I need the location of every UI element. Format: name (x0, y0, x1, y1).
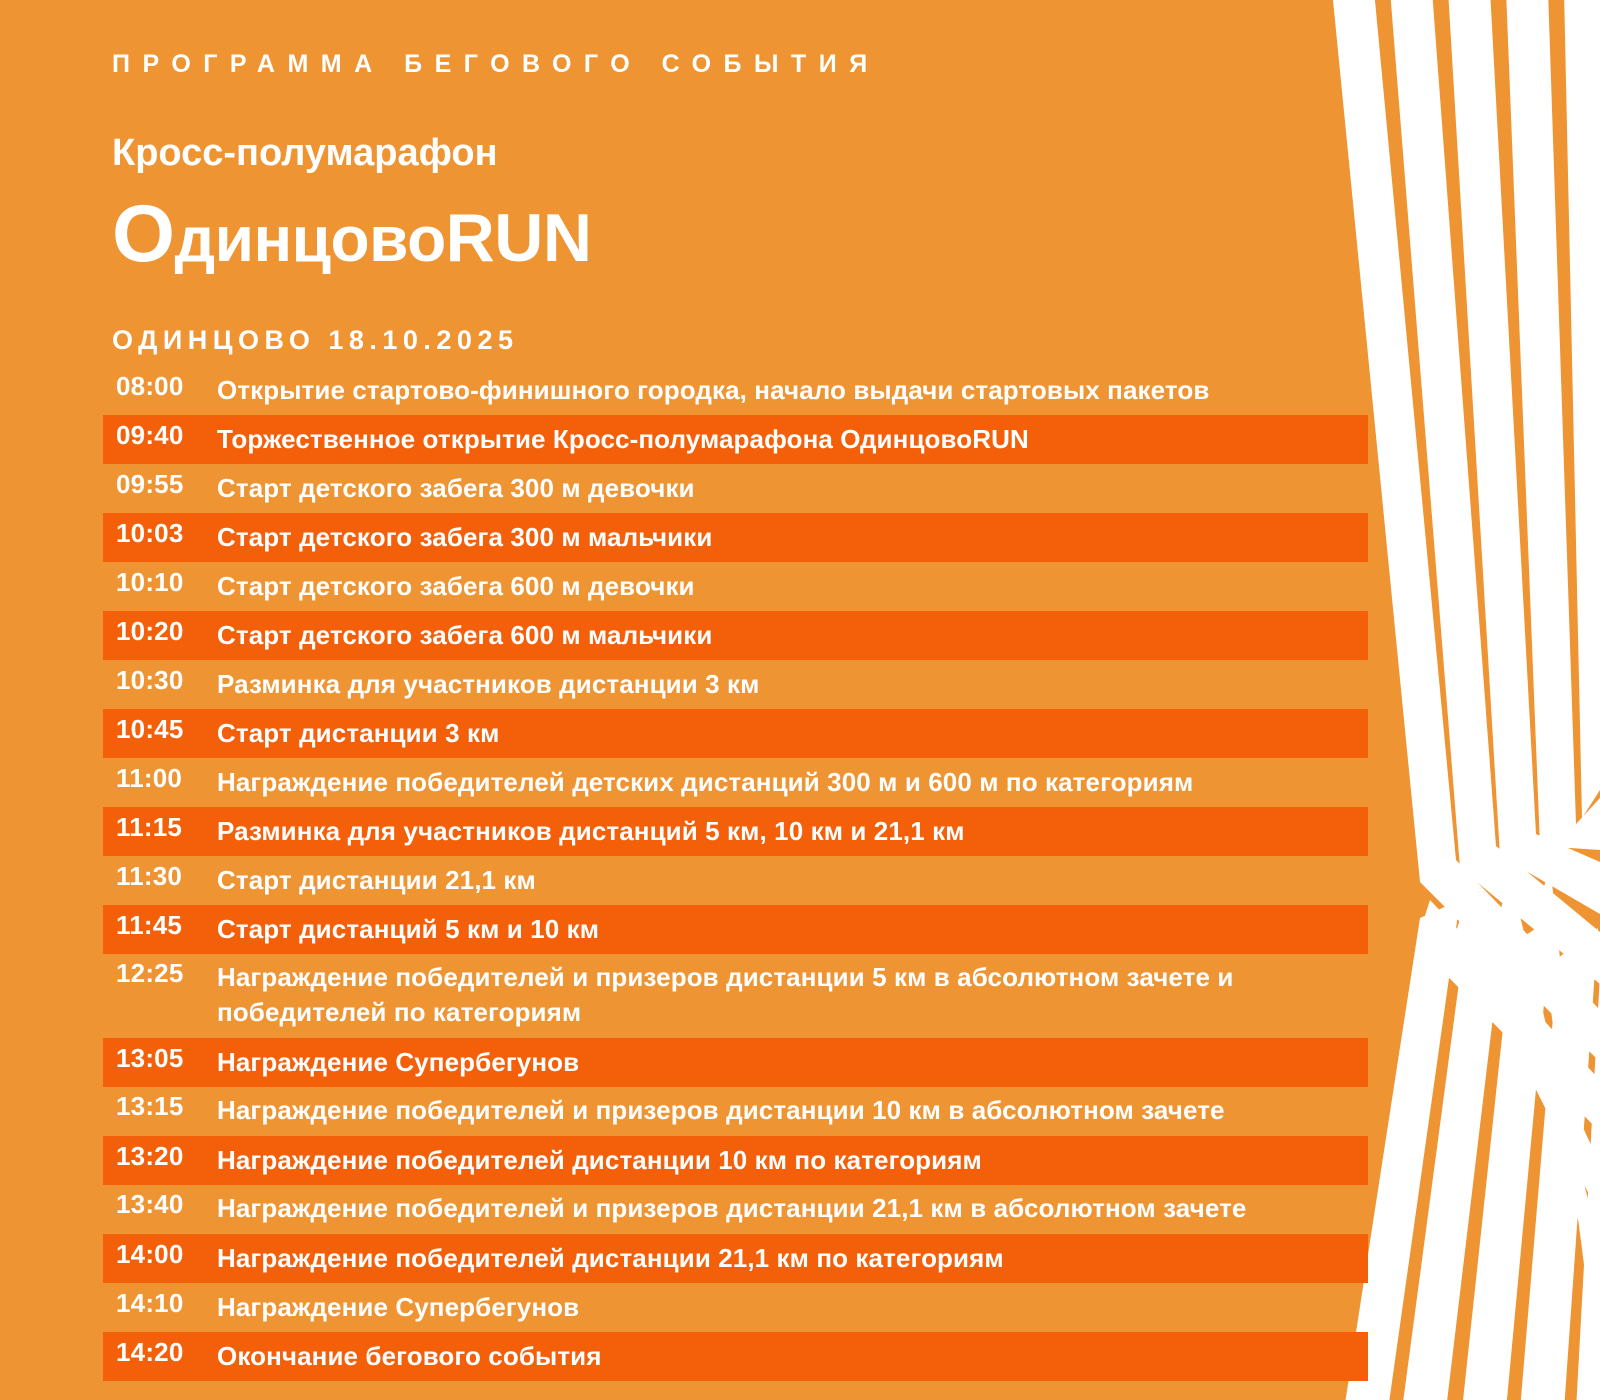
schedule-row: 13:05Награждение Супербегунов (103, 1038, 1368, 1087)
schedule-row-description: Старт дистанций 5 км и 10 км (217, 912, 1368, 947)
schedule-row-description: Окончание бегового события (217, 1339, 1368, 1374)
schedule-row: 14:10Награждение Супербегунов (103, 1283, 1368, 1332)
schedule-row: 11:30Старт дистанции 21,1 км (103, 856, 1368, 905)
schedule-row-description: Награждение победителей детских дистанци… (217, 765, 1368, 800)
schedule-row-time: 09:40 (116, 422, 217, 449)
schedule-row-description: Награждение Супербегунов (217, 1045, 1368, 1080)
eyebrow-text: ПРОГРАММА БЕГОВОГО СОБЫТИЯ (112, 52, 1292, 77)
schedule-row: 09:55Старт детского забега 300 м девочки (103, 464, 1368, 513)
schedule-row-description: Награждение победителей и призеров диста… (217, 1191, 1337, 1226)
schedule-row-description: Старт детского забега 600 м девочки (217, 569, 1368, 604)
schedule-row-time: 10:03 (116, 520, 217, 547)
schedule-row-description: Открытие стартово-финишного городка, нач… (217, 373, 1368, 408)
schedule-row-description: Старт детского забега 300 м девочки (217, 471, 1368, 506)
event-title-latin: RUN (446, 200, 592, 276)
schedule-row: 13:40Награждение победителей и призеров … (103, 1185, 1368, 1234)
schedule-row-time: 09:55 (116, 471, 217, 498)
place-and-date: ОДИНЦОВО 18.10.2025 (112, 327, 1292, 354)
schedule-row-time: 11:30 (116, 863, 217, 890)
schedule-row: 14:00Награждение победителей дистанции 2… (103, 1234, 1368, 1283)
schedule-row: 13:15Награждение победителей и призеров … (103, 1087, 1368, 1136)
schedule-row-time: 08:00 (116, 373, 217, 400)
event-title-lead: О (112, 189, 175, 279)
event-title: ОдинцовоRUN (112, 194, 1292, 275)
schedule-row: 11:15Разминка для участников дистанций 5… (103, 807, 1368, 856)
schedule-row-time: 10:20 (116, 618, 217, 645)
schedule-row-time: 13:40 (116, 1191, 217, 1218)
schedule-row-time: 13:05 (116, 1045, 217, 1072)
schedule-row-time: 10:30 (116, 667, 217, 694)
schedule-row: 12:25Награждение победителей и призеров … (103, 954, 1368, 1038)
schedule-row-time: 14:10 (116, 1290, 217, 1317)
schedule-row: 14:20Окончание бегового события (103, 1332, 1368, 1381)
schedule-row-description: Торжественное открытие Кросс-полумарафон… (217, 422, 1368, 457)
schedule-row-description: Награждение Супербегунов (217, 1290, 1368, 1325)
schedule-row-time: 12:25 (116, 960, 217, 987)
schedule-row-time: 10:45 (116, 716, 217, 743)
schedule-row-description: Разминка для участников дистанций 5 км, … (217, 814, 1368, 849)
poster-header: ПРОГРАММА БЕГОВОГО СОБЫТИЯ Кросс-полумар… (112, 52, 1292, 354)
schedule-row: 08:00Открытие стартово-финишного городка… (103, 366, 1368, 415)
schedule-row-time: 13:15 (116, 1093, 217, 1120)
schedule-row-description: Разминка для участников дистанции 3 км (217, 667, 1368, 702)
event-subtitle: Кросс-полумарафон (112, 134, 1292, 172)
schedule-row-description: Награждение победителей дистанции 10 км … (217, 1143, 1368, 1178)
schedule-list: 08:00Открытие стартово-финишного городка… (103, 366, 1368, 1381)
schedule-row-description: Награждение победителей и призеров диста… (217, 1093, 1337, 1128)
schedule-row-description: Награждение победителей дистанции 21,1 к… (217, 1241, 1368, 1276)
schedule-row-description: Награждение победителей и призеров диста… (217, 960, 1337, 1030)
schedule-row-time: 13:20 (116, 1143, 217, 1170)
schedule-row-time: 10:10 (116, 569, 217, 596)
schedule-row-time: 14:20 (116, 1339, 217, 1366)
schedule-row: 10:45Старт дистанции 3 км (103, 709, 1368, 758)
schedule-row-description: Старт детского забега 300 м мальчики (217, 520, 1368, 555)
schedule-row: 10:10Старт детского забега 600 м девочки (103, 562, 1368, 611)
schedule-row-description: Старт дистанции 21,1 км (217, 863, 1368, 898)
schedule-row: 11:45Старт дистанций 5 км и 10 км (103, 905, 1368, 954)
schedule-row-time: 11:00 (116, 765, 217, 792)
schedule-row-description: Старт детского забега 600 м мальчики (217, 618, 1368, 653)
schedule-row-time: 11:15 (116, 814, 217, 841)
schedule-row: 09:40Торжественное открытие Кросс-полума… (103, 415, 1368, 464)
event-title-ru: динцово (175, 203, 446, 275)
schedule-row-time: 14:00 (116, 1241, 217, 1268)
schedule-row: 10:20Старт детского забега 600 м мальчик… (103, 611, 1368, 660)
schedule-row: 13:20Награждение победителей дистанции 1… (103, 1136, 1368, 1185)
poster-canvas: ПРОГРАММА БЕГОВОГО СОБЫТИЯ Кросс-полумар… (0, 0, 1600, 1400)
schedule-row: 10:03Старт детского забега 300 м мальчик… (103, 513, 1368, 562)
schedule-row: 11:00Награждение победителей детских дис… (103, 758, 1368, 807)
schedule-row: 10:30Разминка для участников дистанции 3… (103, 660, 1368, 709)
schedule-row-time: 11:45 (116, 912, 217, 939)
schedule-row-description: Старт дистанции 3 км (217, 716, 1368, 751)
